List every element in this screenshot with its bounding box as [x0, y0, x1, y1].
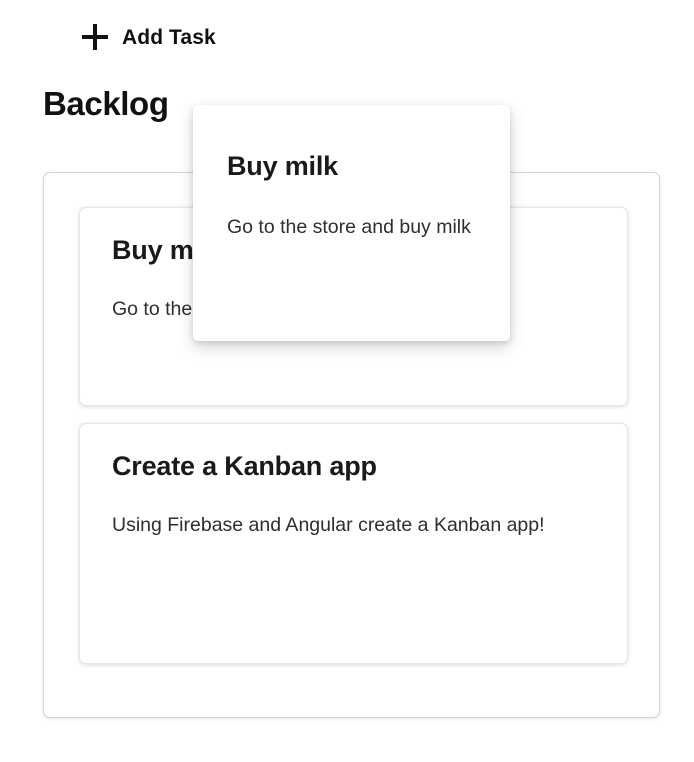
task-card-title: Create a Kanban app	[112, 450, 597, 482]
column-title-backlog: Backlog	[43, 84, 169, 124]
add-task-button[interactable]: Add Task	[78, 22, 220, 52]
drag-preview-card[interactable]: Buy milk Go to the store and buy milk	[193, 105, 510, 341]
drag-preview-description: Go to the store and buy milk	[227, 212, 473, 242]
drag-preview-title: Buy milk	[227, 150, 476, 182]
add-task-label: Add Task	[122, 27, 216, 48]
toolbar: Add Task	[0, 0, 694, 76]
task-card-description: Using Firebase and Angular create a Kanb…	[112, 510, 597, 540]
plus-icon	[82, 24, 108, 50]
task-card[interactable]: Create a Kanban app Using Firebase and A…	[79, 423, 628, 664]
